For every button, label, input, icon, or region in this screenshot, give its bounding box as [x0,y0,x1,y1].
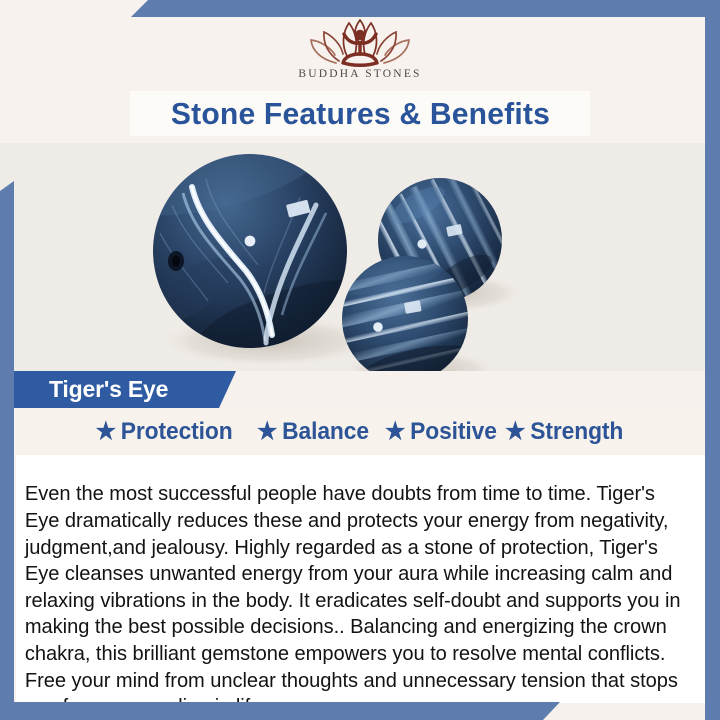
description-panel: Even the most successful people have dou… [16,455,705,703]
benefit-label: Balance [282,418,369,446]
star-icon: ★ [505,420,525,444]
frame-right-bar [705,0,720,720]
benefit-item-balance: ★ Balance [257,418,369,446]
page-title: Stone Features & Benefits [170,96,549,132]
star-icon: ★ [385,420,405,444]
brand-name: BUDDHA STONES [298,68,421,80]
benefit-item-strength: ★ Strength [505,418,623,446]
benefit-label: Protection [121,418,233,446]
benefit-label: Strength [531,418,624,446]
benefit-item-protection: ★ Protection [96,418,233,446]
stone-name: Tiger's Eye [0,376,168,403]
lotus-meditation-icon [306,14,414,70]
brand-logo: BUDDHA STONES [0,14,720,92]
benefits-row: ★ Protection ★ Balance ★ Positive ★ Stre… [14,408,705,455]
stone-name-banner: Tiger's Eye [0,371,236,408]
benefit-label: Positive [411,418,498,446]
title-band: Stone Features & Benefits [130,91,590,136]
product-infographic: BUDDHA STONES Stone Features & Benefits [0,0,720,720]
product-photo [0,143,720,371]
frame-left-bar [0,181,14,720]
star-icon: ★ [96,420,116,444]
description-text: Even the most successful people have dou… [16,475,695,720]
star-icon: ★ [257,420,277,444]
benefit-item-positive: ★ Positive [385,418,497,446]
